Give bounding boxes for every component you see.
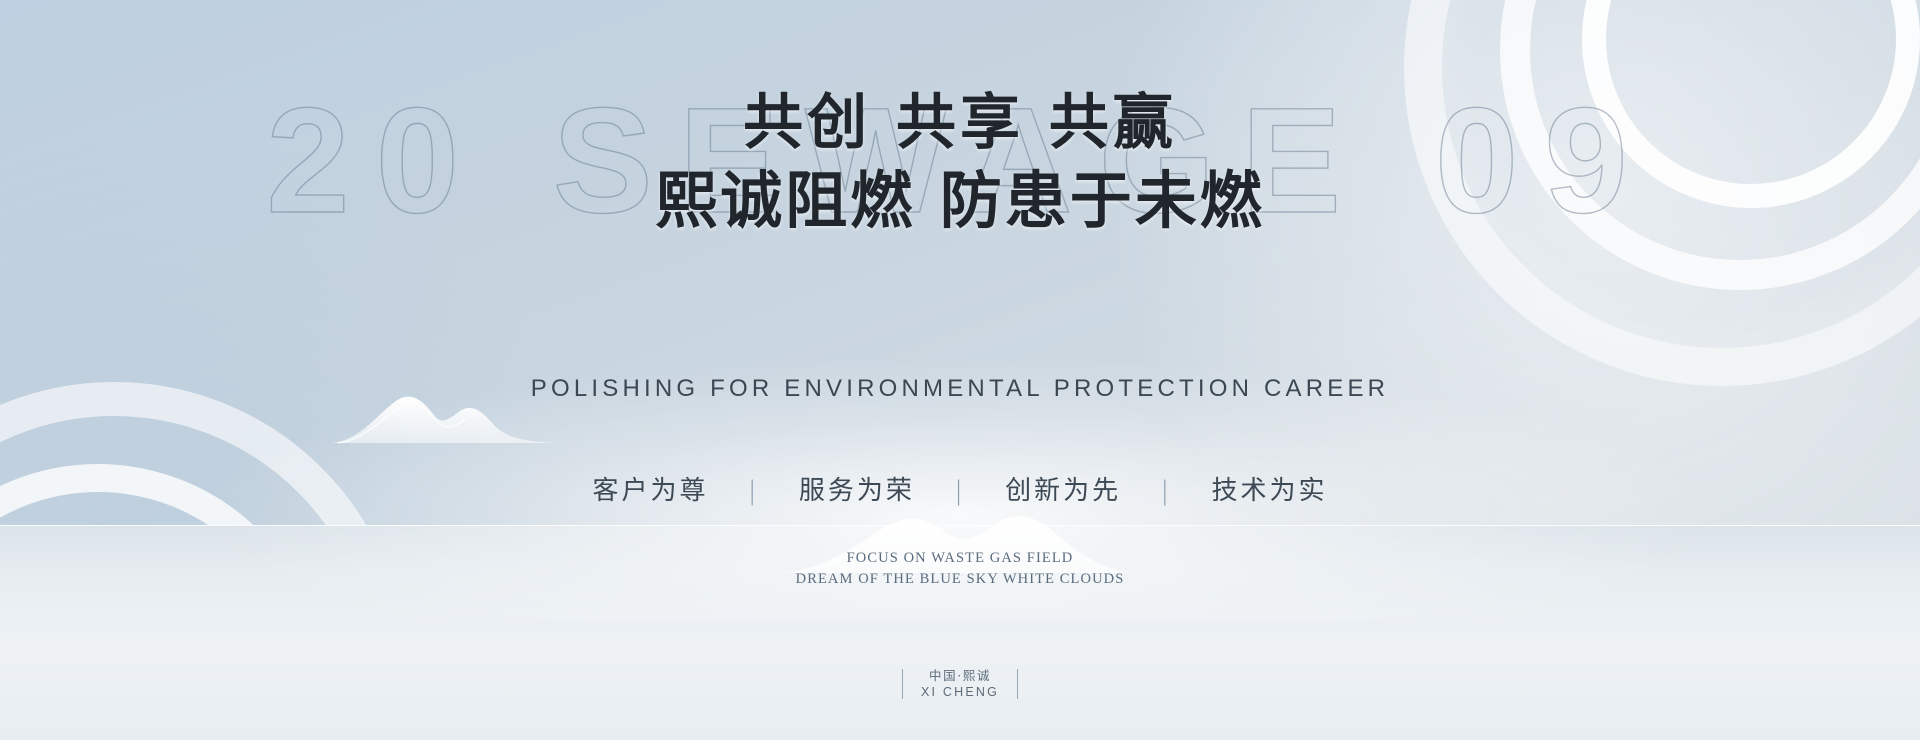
banner-subtitle: POLISHING FOR ENVIRONMENTAL PROTECTION C… <box>0 375 1920 403</box>
value-item-3: 创新为先 <box>1005 476 1121 506</box>
brand-text: 中国·熙诚 XI CHENG <box>921 667 999 701</box>
brand-divider-left <box>902 669 903 699</box>
value-item-4: 技术为实 <box>1211 476 1327 506</box>
value-separator-2: | <box>954 476 966 506</box>
banner-title-line2: 熙诚阻燃 防患于未燃 <box>0 164 1920 238</box>
brand-divider-right <box>1017 669 1018 699</box>
value-separator-3: | <box>1160 476 1172 506</box>
brand-name-en: XI CHENG <box>921 684 999 701</box>
brand-name-cn: 中国·熙诚 <box>921 667 999 684</box>
micro-tagline: FOCUS ON WASTE GAS FIELD DREAM OF THE BL… <box>0 548 1920 590</box>
value-list: 客户为尊 | 服务为荣 | 创新为先 | 技术为实 <box>0 470 1920 507</box>
value-item-2: 服务为荣 <box>799 476 915 506</box>
hero-banner: 20 SEWAGE 09 共创 共享 共赢 熙诚阻燃 防患于未燃 POLISHI… <box>0 0 1920 740</box>
value-item-1: 客户为尊 <box>593 476 709 506</box>
banner-title: 共创 共享 共赢 熙诚阻燃 防患于未燃 <box>0 86 1920 238</box>
value-separator-1: | <box>748 476 760 506</box>
brand-block: 中国·熙诚 XI CHENG <box>0 667 1920 704</box>
banner-title-line1: 共创 共享 共赢 <box>743 88 1177 158</box>
micro-tagline-line1: FOCUS ON WASTE GAS FIELD <box>0 548 1920 569</box>
micro-tagline-line2: DREAM OF THE BLUE SKY WHITE CLOUDS <box>0 569 1920 590</box>
